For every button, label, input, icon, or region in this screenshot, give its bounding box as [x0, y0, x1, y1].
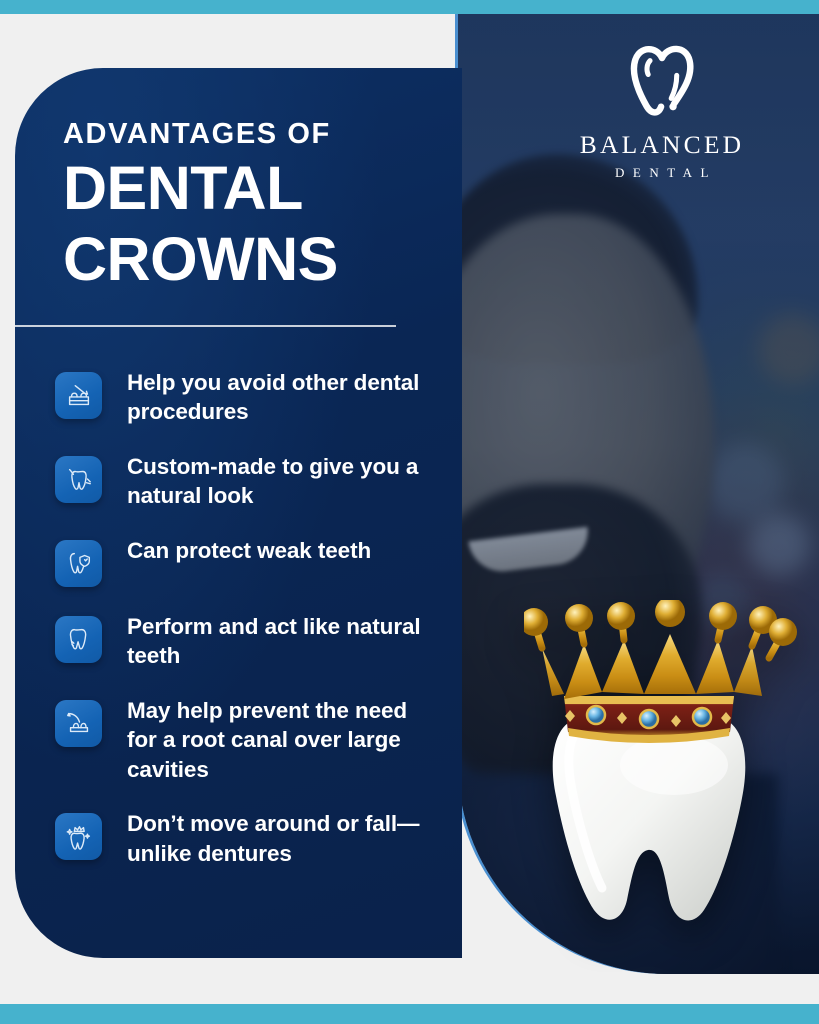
poster-canvas: BALANCED DENTAL [0, 0, 819, 1024]
list-item: Custom-made to give you a natural look [55, 452, 455, 511]
logo-wordmark: BALANCED [562, 132, 762, 158]
tooth-shaping-tool-icon [55, 456, 102, 503]
teeth-with-dental-tool-icon [55, 372, 102, 419]
headline-main-line1: DENTAL [63, 157, 453, 220]
list-item-label: Custom-made to give you a natural look [127, 452, 427, 511]
tooth-heart-outline-icon [616, 34, 708, 126]
list-item-label: May help prevent the need for a root can… [127, 696, 427, 784]
list-item: Can protect weak teeth [55, 536, 455, 587]
bottom-accent-band [0, 1004, 819, 1024]
gold-crown-on-white-tooth-graphic [524, 600, 814, 940]
list-item: Don’t move around or fall—unlike denture… [55, 809, 455, 868]
logo-subtext: DENTAL [562, 165, 762, 181]
headline-block: ADVANTAGES OF DENTAL CROWNS [63, 120, 453, 291]
headline-main-line2: CROWNS [63, 228, 453, 291]
list-item-label: Can protect weak teeth [127, 536, 371, 565]
list-item-label: Don’t move around or fall—unlike denture… [127, 809, 427, 868]
natural-tooth-icon [55, 616, 102, 663]
list-item: Help you avoid other dental procedures [55, 368, 455, 427]
tooth-shield-protection-icon [55, 540, 102, 587]
headline-eyebrow: ADVANTAGES OF [63, 120, 453, 149]
benefits-list: Help you avoid other dental procedures C… [55, 368, 455, 868]
top-accent-band [0, 0, 819, 14]
content-card: ADVANTAGES OF DENTAL CROWNS Help you avo… [15, 68, 462, 958]
list-item-label: Help you avoid other dental procedures [127, 368, 427, 427]
list-item: May help prevent the need for a root can… [55, 696, 455, 784]
headline-divider [15, 325, 396, 327]
brand-logo: BALANCED DENTAL [562, 34, 762, 181]
list-item-label: Perform and act like natural teeth [127, 612, 427, 671]
list-item: Perform and act like natural teeth [55, 612, 455, 671]
crowned-tooth-sparkle-icon [55, 813, 102, 860]
root-canal-drill-icon [55, 700, 102, 747]
